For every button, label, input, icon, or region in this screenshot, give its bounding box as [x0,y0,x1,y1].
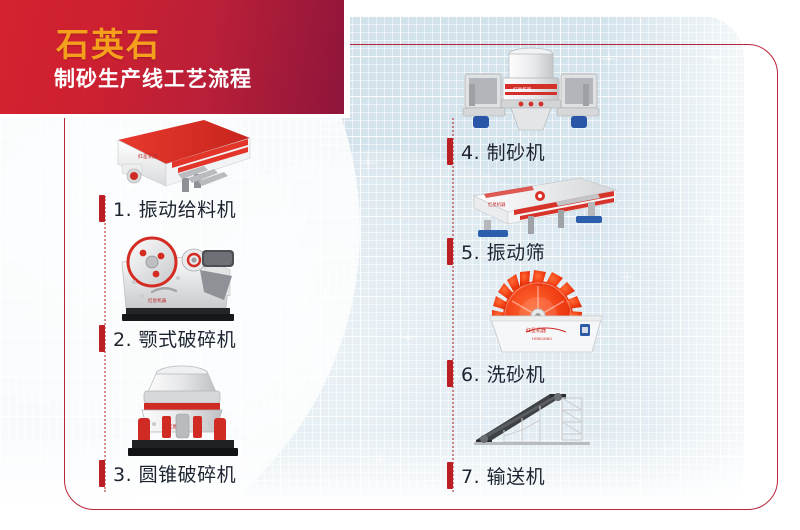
svg-text:红星机器: 红星机器 [488,201,506,208]
svg-text:红星机器: 红星机器 [513,86,532,93]
list-item-label-6[interactable]: 6. 洗砂机 [447,360,545,387]
jaw-crusher-image: 红星机器 [112,226,252,324]
belt-conveyor-image [474,392,594,454]
vibrating-screen-image: 红星机器 [468,176,620,242]
list-item-label-2[interactable]: 2. 颚式破碎机 [99,325,236,352]
list-item-label-3[interactable]: 3. 圆锥破碎机 [99,460,236,487]
list-item-text: 5. 振动筛 [461,238,545,265]
marker-bar-icon [447,138,453,165]
marker-bar-icon [447,462,453,489]
title-banner: 石英石 制砂生产线工艺流程 [0,0,344,114]
marker-bar-icon [447,360,453,387]
list-item-text: 3. 圆锥破碎机 [113,460,236,487]
banner-title: 石英石 [56,18,161,66]
list-item-label-4[interactable]: 4. 制砂机 [447,138,545,165]
list-item-text: 1. 振动给料机 [113,195,236,222]
list-item-text: 7. 输送机 [461,462,545,489]
list-item-label-7[interactable]: 7. 输送机 [447,462,545,489]
vibrating-feeder-image: 红星机器 [108,112,256,198]
marker-bar-icon [99,460,105,487]
svg-text:红星: 红星 [168,423,177,430]
list-item-text: 4. 制砂机 [461,138,545,165]
svg-text:红星机器: 红星机器 [148,297,167,304]
svg-text:红星机器: 红星机器 [526,327,546,334]
sand-washer-image: 红星机器 HONGXING [482,272,610,356]
list-item-text: 6. 洗砂机 [461,360,545,387]
infographic-root: 红星机器 1. 振动给料机 [0,0,800,530]
list-item-label-1[interactable]: 1. 振动给料机 [99,195,236,222]
svg-text:红星机器: 红星机器 [138,153,158,160]
sand-making-machine-image: 红星机器 [455,34,607,134]
connector-dotted-line-right [452,118,454,492]
banner-subtitle: 制砂生产线工艺流程 [54,63,252,93]
list-item-label-5[interactable]: 5. 振动筛 [447,238,545,265]
cone-crusher-image: 红星 [118,358,248,460]
svg-text:HONGXING: HONGXING [532,337,552,341]
list-item-text: 2. 颚式破碎机 [113,325,236,352]
marker-bar-icon [447,238,453,265]
marker-bar-icon [99,325,105,352]
marker-bar-icon [99,195,105,222]
